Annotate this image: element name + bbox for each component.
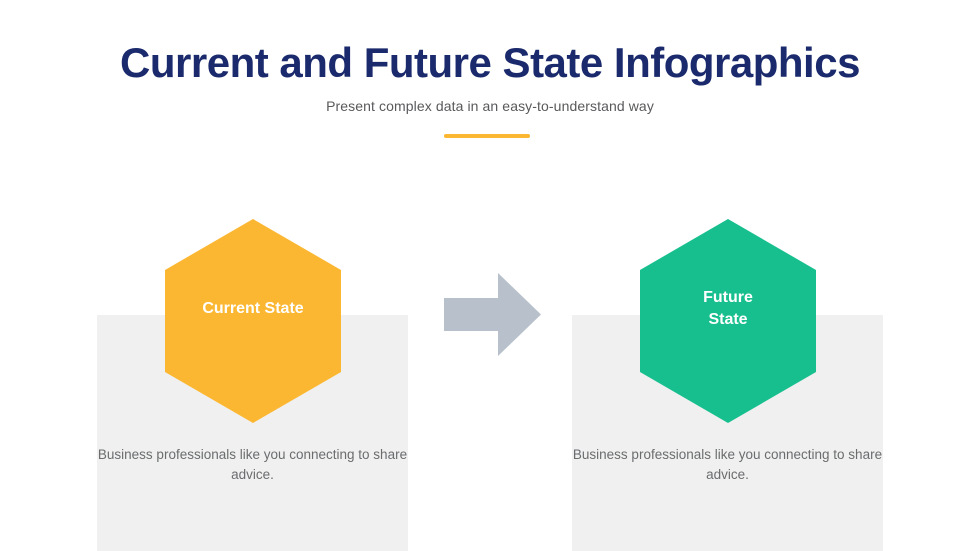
hexagon-current-state-label: Current State	[188, 298, 317, 320]
caption-future-state: Business professionals like you connecti…	[572, 445, 883, 486]
slide-canvas: Current and Future State Infographics Pr…	[0, 0, 980, 551]
page-subtitle: Present complex data in an easy-to-under…	[0, 98, 980, 114]
page-title: Current and Future State Infographics	[0, 40, 980, 86]
accent-divider	[444, 134, 530, 138]
hexagon-future-state-label: Future State	[674, 287, 782, 330]
right-arrow-icon	[444, 273, 541, 356]
caption-current-state: Business professionals like you connecti…	[97, 445, 408, 486]
